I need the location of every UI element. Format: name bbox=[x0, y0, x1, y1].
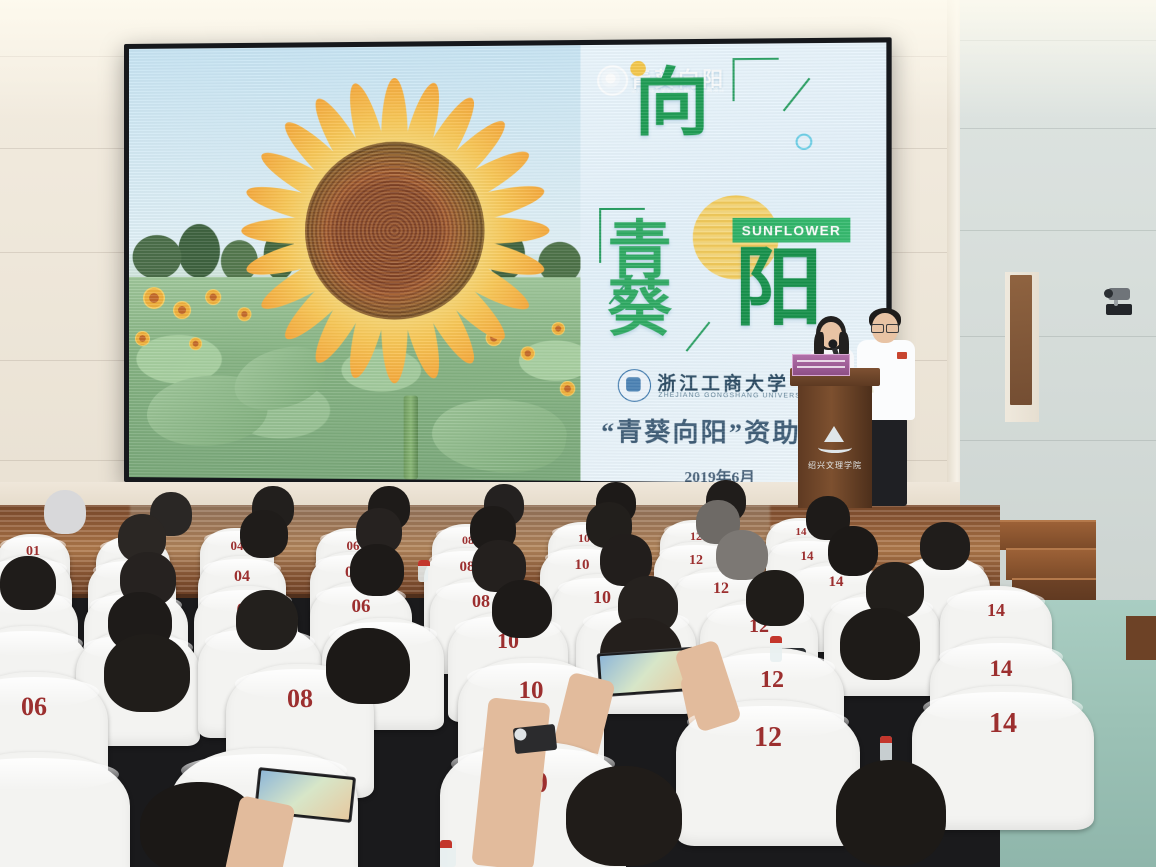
slide-char-kui: 葵 bbox=[607, 277, 671, 340]
wall-seam bbox=[960, 128, 1156, 129]
audience-head bbox=[492, 580, 552, 638]
audience-head bbox=[836, 760, 946, 866]
sunflower-bloom bbox=[239, 68, 551, 393]
audience-head bbox=[920, 522, 970, 570]
podium: 绍兴文理学院 bbox=[790, 368, 880, 508]
wall-seam bbox=[960, 440, 1156, 441]
glasses-icon bbox=[871, 324, 899, 331]
water-bottle bbox=[770, 636, 782, 662]
audience-head bbox=[828, 526, 878, 576]
decor-slash bbox=[686, 322, 711, 352]
audience-head bbox=[236, 590, 298, 650]
water-bottle bbox=[418, 560, 428, 582]
sunflower-photo bbox=[129, 45, 580, 481]
wristwatch bbox=[513, 724, 557, 754]
sunflower-band-label: SUNFLOWER bbox=[742, 222, 842, 238]
mountain-wave-emblem bbox=[818, 426, 852, 452]
audience-head bbox=[566, 766, 682, 866]
audience-head bbox=[746, 570, 804, 626]
audience-head bbox=[350, 544, 404, 596]
ptz-camera-icon bbox=[1104, 288, 1138, 314]
podium-sign bbox=[792, 354, 850, 376]
door-edge bbox=[1010, 275, 1032, 405]
wall-seam bbox=[960, 230, 1156, 231]
slide-char-xiang: 向 bbox=[634, 67, 709, 141]
seat[interactable] bbox=[0, 752, 130, 867]
water-bottle bbox=[880, 736, 892, 762]
sunflower-logo-icon bbox=[597, 65, 628, 96]
audience-head bbox=[840, 608, 920, 680]
auditorium-scene: 青葵向阳 浙江工商大学学生资助文化品牌项目 向 青 葵 阳 SUNFLOWER bbox=[0, 0, 1156, 867]
water-bottle bbox=[440, 840, 456, 867]
university-seal-icon bbox=[618, 369, 651, 402]
sunflower-band: SUNFLOWER bbox=[733, 218, 851, 243]
decor-ring bbox=[796, 134, 813, 151]
audience-head bbox=[44, 490, 86, 534]
audience-head bbox=[240, 510, 288, 558]
decor-bracket bbox=[733, 58, 779, 101]
audience-head bbox=[326, 628, 410, 704]
side-table bbox=[1126, 616, 1156, 660]
led-screen: 青葵向阳 浙江工商大学学生资助文化品牌项目 向 青 葵 阳 SUNFLOWER bbox=[124, 37, 892, 488]
audience-head bbox=[0, 556, 56, 610]
wall-seam bbox=[960, 336, 1156, 337]
audience-head bbox=[104, 634, 190, 712]
podium-institution-name: 绍兴文理学院 bbox=[796, 460, 874, 471]
